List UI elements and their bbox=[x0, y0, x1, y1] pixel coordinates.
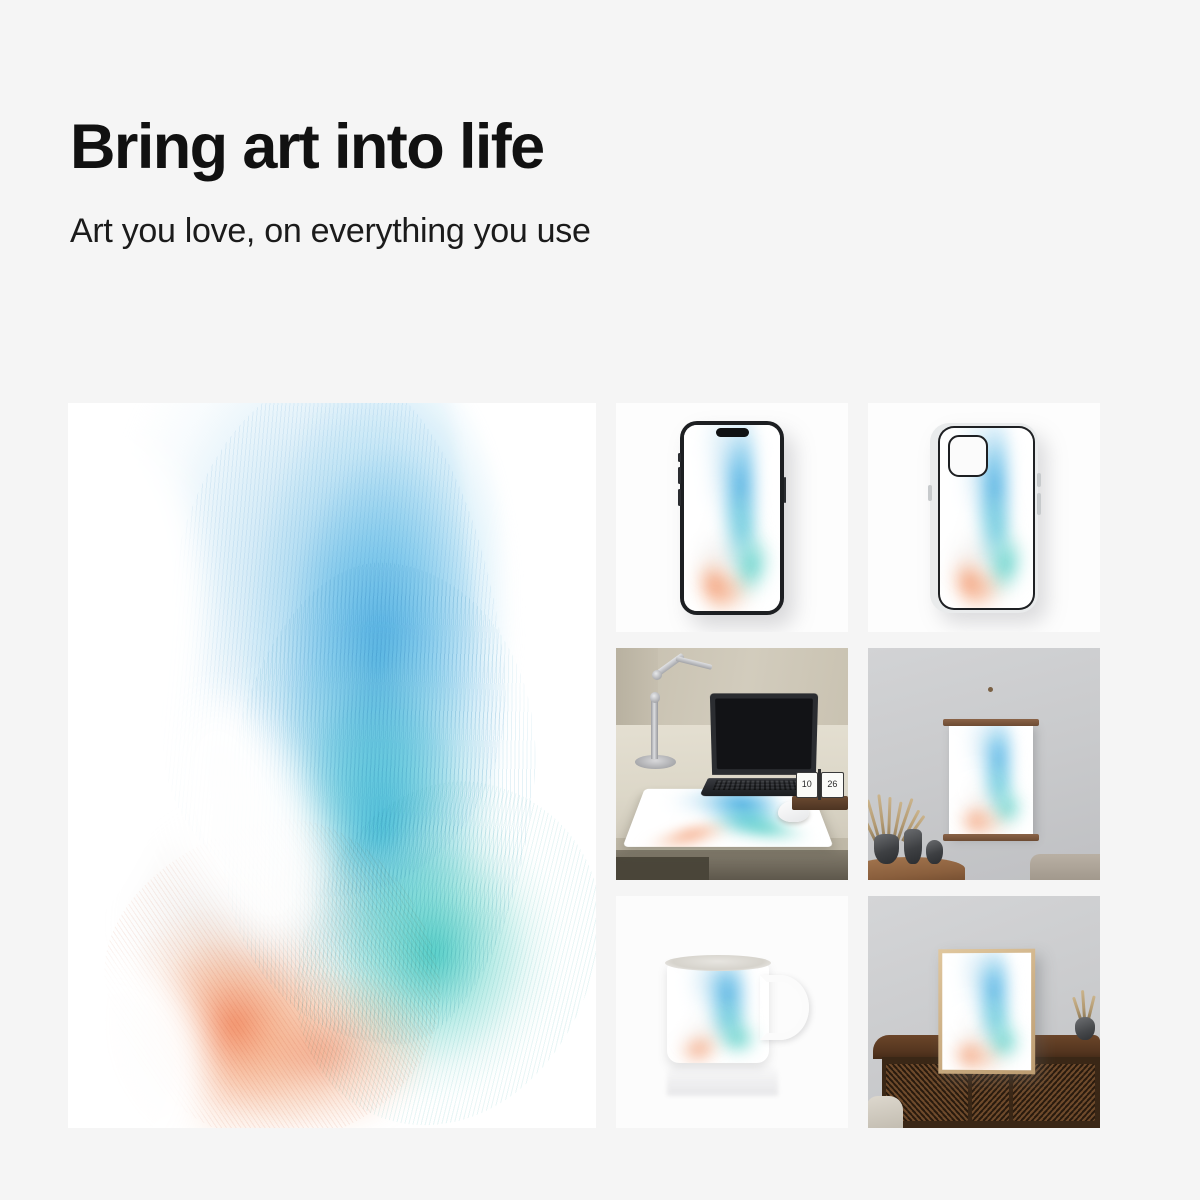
artwork-hero-tile[interactable] bbox=[68, 403, 596, 1128]
phone-case-mockup-scene bbox=[868, 403, 1100, 632]
phone-case-back bbox=[938, 426, 1035, 610]
phone-dynamic-island bbox=[716, 428, 749, 437]
poster-printed-art bbox=[949, 723, 1033, 836]
phone-case-tile[interactable] bbox=[868, 403, 1100, 632]
phone-volume-down-button bbox=[678, 489, 681, 506]
poster-top-rail bbox=[943, 719, 1038, 726]
case-volume-cutout bbox=[928, 485, 932, 501]
tall-ceramic-vase bbox=[904, 829, 922, 864]
vase-arrangement bbox=[873, 792, 957, 871]
case-camera-cutout bbox=[948, 435, 988, 477]
flip-calendar-day: 26 bbox=[821, 772, 843, 798]
flip-calendar: 10 26 bbox=[792, 769, 848, 811]
desk-mat-tile[interactable]: 10 26 bbox=[616, 648, 848, 880]
landing-page: Bring art into life Art you love, on eve… bbox=[0, 0, 1200, 1200]
desk-lamp-pole bbox=[651, 699, 657, 759]
abstract-artwork bbox=[68, 403, 596, 1128]
flip-calendar-month: 10 bbox=[796, 772, 818, 798]
phone-case-device bbox=[930, 423, 1038, 613]
framed-print-tile[interactable] bbox=[868, 896, 1100, 1128]
hanging-poster-tile[interactable] bbox=[868, 648, 1100, 880]
page-title: Bring art into life bbox=[70, 112, 1130, 183]
hanging-poster-product bbox=[949, 718, 1033, 841]
mug-mockup-scene bbox=[616, 896, 848, 1128]
case-side-cutout-upper bbox=[1037, 473, 1041, 487]
coffee-mug-tile[interactable] bbox=[616, 896, 848, 1128]
coffee-mug-product bbox=[667, 961, 769, 1063]
laptop-screen bbox=[716, 699, 813, 770]
desk-lamp-joint-lower bbox=[650, 692, 660, 702]
small-ceramic-vase bbox=[926, 840, 943, 864]
phone-silent-switch bbox=[678, 453, 681, 462]
sofa bbox=[1030, 854, 1100, 880]
desk-shadow bbox=[616, 857, 709, 880]
page-subtitle: Art you love, on everything you use bbox=[70, 211, 1130, 252]
phone-power-button bbox=[784, 477, 787, 503]
phone-wallpaper-tile[interactable] bbox=[616, 403, 848, 632]
framed-scene-vase bbox=[1075, 1017, 1096, 1040]
phone-wallpaper-art bbox=[684, 425, 780, 611]
phone-screen bbox=[684, 425, 780, 611]
framed-scene-sofa bbox=[868, 1096, 903, 1128]
smartphone-device bbox=[680, 421, 784, 615]
framed-print-product bbox=[938, 949, 1035, 1075]
framed-print-room-scene bbox=[868, 896, 1100, 1128]
phone-mockup-scene bbox=[616, 403, 848, 632]
product-gallery: 10 26 bbox=[68, 403, 1132, 1131]
frame-print-art bbox=[942, 953, 1031, 1071]
mug-printed-art bbox=[667, 961, 769, 1063]
phone-volume-up-button bbox=[678, 467, 681, 484]
desk-mockup-scene: 10 26 bbox=[616, 648, 848, 880]
framed-scene-plant bbox=[1076, 987, 1092, 1019]
case-side-cutout-lower bbox=[1037, 493, 1041, 515]
mug-reflection bbox=[667, 1063, 778, 1095]
poster-room-scene bbox=[868, 648, 1100, 880]
page-header: Bring art into life Art you love, on eve… bbox=[70, 112, 1130, 251]
poster-bottom-rail bbox=[943, 834, 1038, 841]
laptop-lid bbox=[710, 694, 818, 776]
glass-vase bbox=[874, 834, 899, 864]
